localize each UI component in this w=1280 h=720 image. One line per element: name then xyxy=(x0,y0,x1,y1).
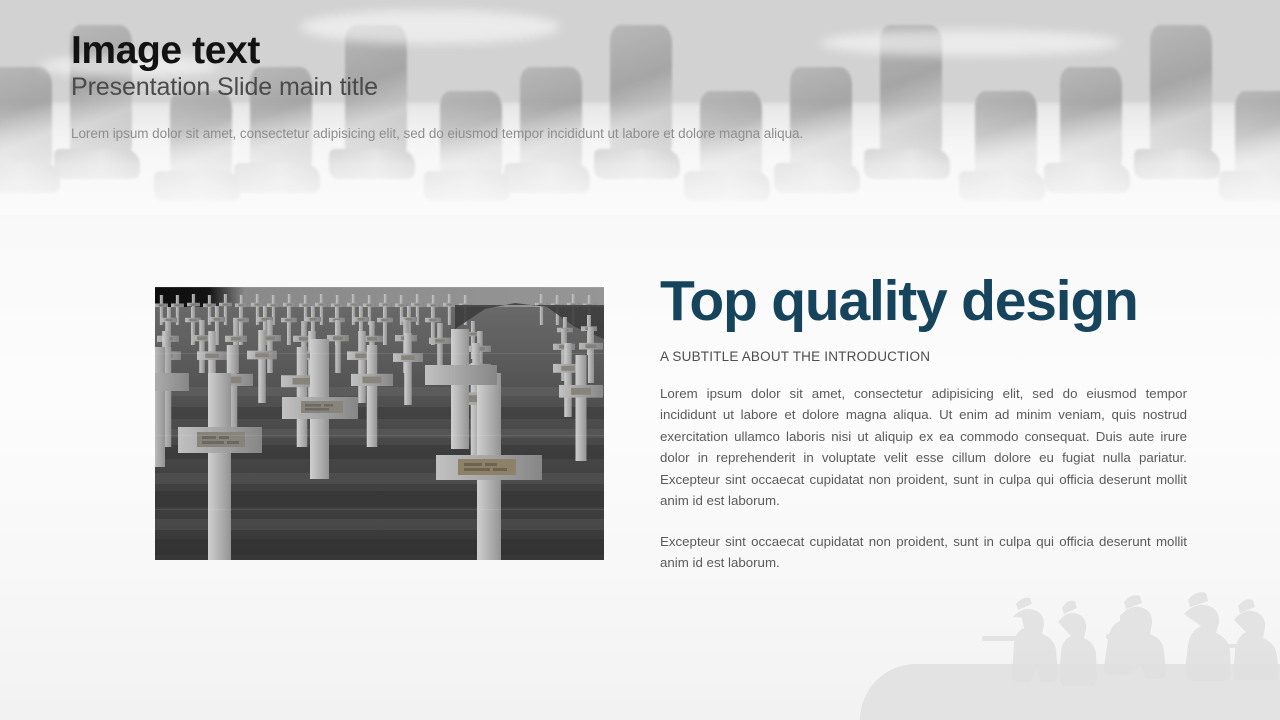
soldiers-icon xyxy=(980,580,1280,720)
content-paragraph-2: Excepteur sint occaecat cupidatat non pr… xyxy=(660,531,1187,574)
page-subtitle: Presentation Slide main title xyxy=(71,73,971,103)
cemetery-photo-graphic xyxy=(155,287,604,560)
content-subtitle: A SUBTITLE ABOUT THE INTRODUCTION xyxy=(660,348,1187,366)
content-paragraph-1: Lorem ipsum dolor sit amet, consectetur … xyxy=(660,383,1187,512)
content-heading: Top quality design xyxy=(660,272,1187,330)
boot-shape xyxy=(1150,25,1212,173)
boot-shape xyxy=(975,91,1037,195)
boot-shape xyxy=(1235,91,1280,195)
cemetery-photo xyxy=(155,287,604,560)
boot-shape xyxy=(1060,67,1122,187)
slide-header: Image text Presentation Slide main title… xyxy=(71,30,971,143)
page-title: Image text xyxy=(71,30,971,72)
page-description: Lorem ipsum dolor sit amet, consectetur … xyxy=(71,125,971,143)
boot-shape xyxy=(0,67,52,187)
content-column: Top quality design A SUBTITLE ABOUT THE … xyxy=(660,272,1187,574)
background-soldier-silhouettes xyxy=(980,580,1280,720)
presentation-slide: Image text Presentation Slide main title… xyxy=(0,0,1280,720)
